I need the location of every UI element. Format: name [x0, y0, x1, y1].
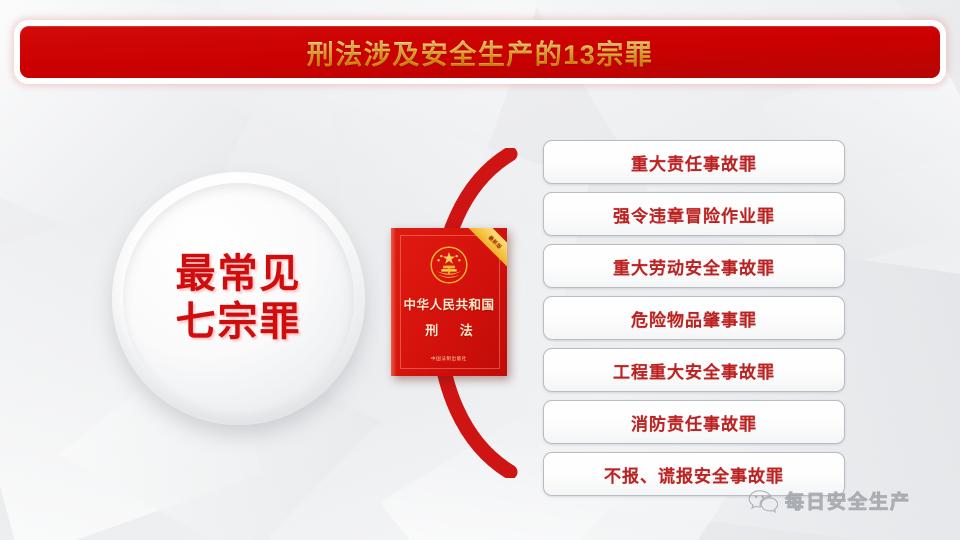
book-title: 中华人民共和国 刑 法: [391, 294, 507, 339]
crime-list-item-label: 重大责任事故罪: [631, 150, 757, 175]
wechat-icon: [748, 489, 778, 513]
watermark-label: 每日安全生产: [785, 487, 911, 514]
crime-list-item-label: 工程重大安全事故罪: [613, 358, 775, 383]
most-common-seven-crimes-badge: 最常见 七宗罪: [112, 172, 365, 425]
page-title: 刑法涉及安全生产的13宗罪: [307, 33, 654, 72]
crime-list-item[interactable]: 重大劳动安全事故罪: [543, 244, 845, 288]
crime-list-item-label: 危险物品肇事罪: [631, 306, 757, 331]
book-publisher: 中国法制出版社: [391, 356, 507, 362]
title-banner: 刑法涉及安全生产的13宗罪: [14, 20, 946, 84]
book-title-line-2: 刑 法: [391, 320, 507, 339]
crime-list-item[interactable]: 危险物品肇事罪: [543, 296, 845, 340]
slide-root: 刑法涉及安全生产的13宗罪 最常见 七宗罪 最新版: [0, 0, 960, 540]
crime-list-item[interactable]: 工程重大安全事故罪: [543, 348, 845, 392]
badge-line-2: 七宗罪: [176, 299, 302, 346]
crime-list-item-label: 消防责任事故罪: [631, 410, 757, 435]
watermark: 每日安全生产: [748, 487, 911, 514]
crime-list-item-label: 强令违章冒险作业罪: [613, 202, 775, 227]
book-title-line-1: 中华人民共和国: [391, 294, 507, 313]
badge-text: 最常见 七宗罪: [176, 251, 302, 345]
crime-list-item[interactable]: 强令违章冒险作业罪: [543, 192, 845, 236]
crime-list: 重大责任事故罪强令违章冒险作业罪重大劳动安全事故罪危险物品肇事罪工程重大安全事故…: [543, 140, 845, 496]
national-emblem-icon: [430, 246, 468, 284]
crime-list-item-label: 不报、谎报安全事故罪: [604, 462, 784, 487]
title-banner-fill: 刑法涉及安全生产的13宗罪: [20, 26, 940, 78]
crime-list-item[interactable]: 重大责任事故罪: [543, 140, 845, 184]
badge-line-1: 最常见: [176, 251, 302, 298]
criminal-law-book: 最新版 中华人民共和国 刑 法 中国法制出版社: [391, 228, 507, 376]
crime-list-item-label: 重大劳动安全事故罪: [613, 254, 775, 279]
crime-list-item[interactable]: 消防责任事故罪: [543, 400, 845, 444]
